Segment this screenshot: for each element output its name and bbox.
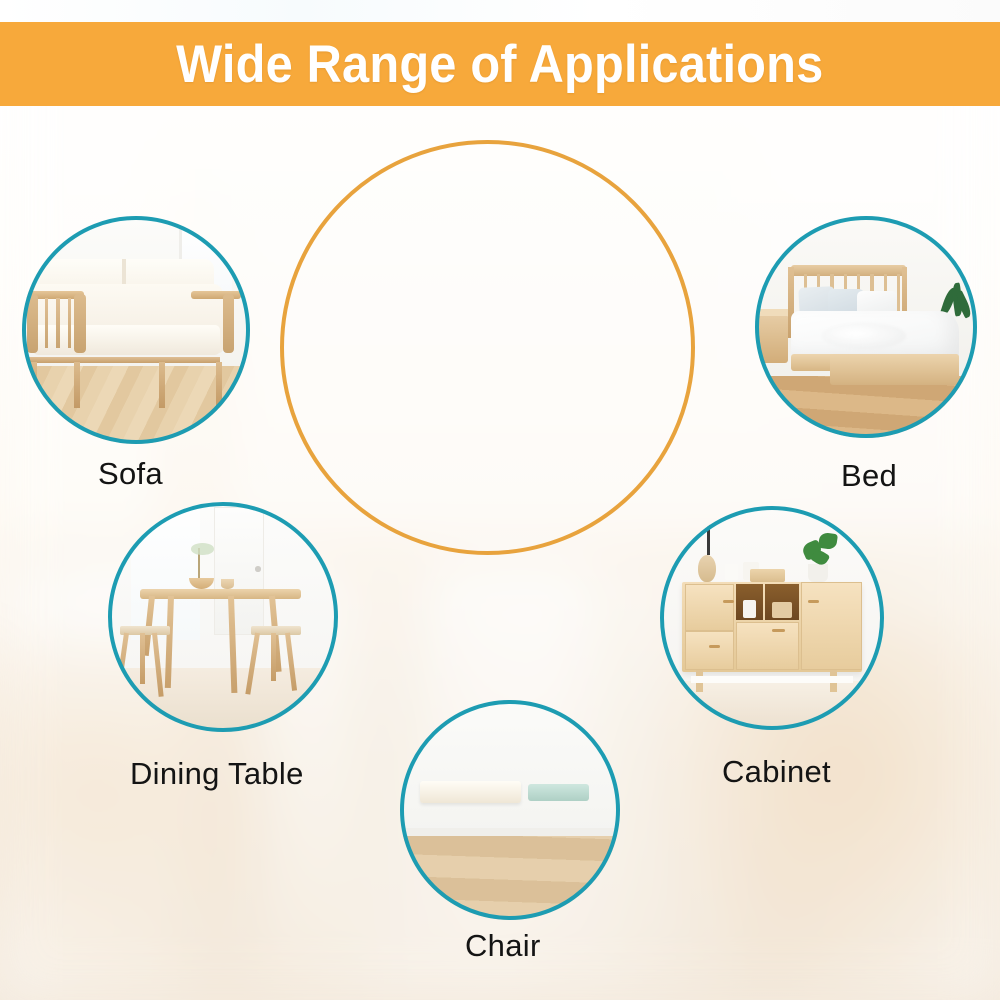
application-label-chair: Chair <box>465 928 541 964</box>
hero-chair-foot-front-left <box>380 514 405 522</box>
hero-image <box>280 140 695 555</box>
chair-scene <box>400 700 620 920</box>
hero-scene <box>280 140 695 555</box>
application-label-sofa: Sofa <box>98 456 163 492</box>
sofa-scene <box>22 216 250 444</box>
application-image-chair <box>400 700 620 920</box>
application-image-sofa <box>22 216 250 444</box>
hero-chair-foot-back-left <box>356 443 374 450</box>
header-banner: Wide Range of Applications <box>0 22 1000 106</box>
application-label-dining-table: Dining Table <box>130 756 304 792</box>
bed-scene <box>755 216 977 438</box>
application-label-bed: Bed <box>841 458 897 494</box>
page-title: Wide Range of Applications <box>176 34 823 95</box>
hero-chair-leg-front-left <box>384 318 408 518</box>
application-image-bed <box>755 216 977 438</box>
application-label-cabinet: Cabinet <box>722 754 831 790</box>
hero-chair-foot-right <box>528 468 554 484</box>
product-cap-hero-1 <box>280 140 342 194</box>
hero-chair-leg-back-left <box>348 322 371 447</box>
hero-chair-leg-right <box>476 302 562 478</box>
